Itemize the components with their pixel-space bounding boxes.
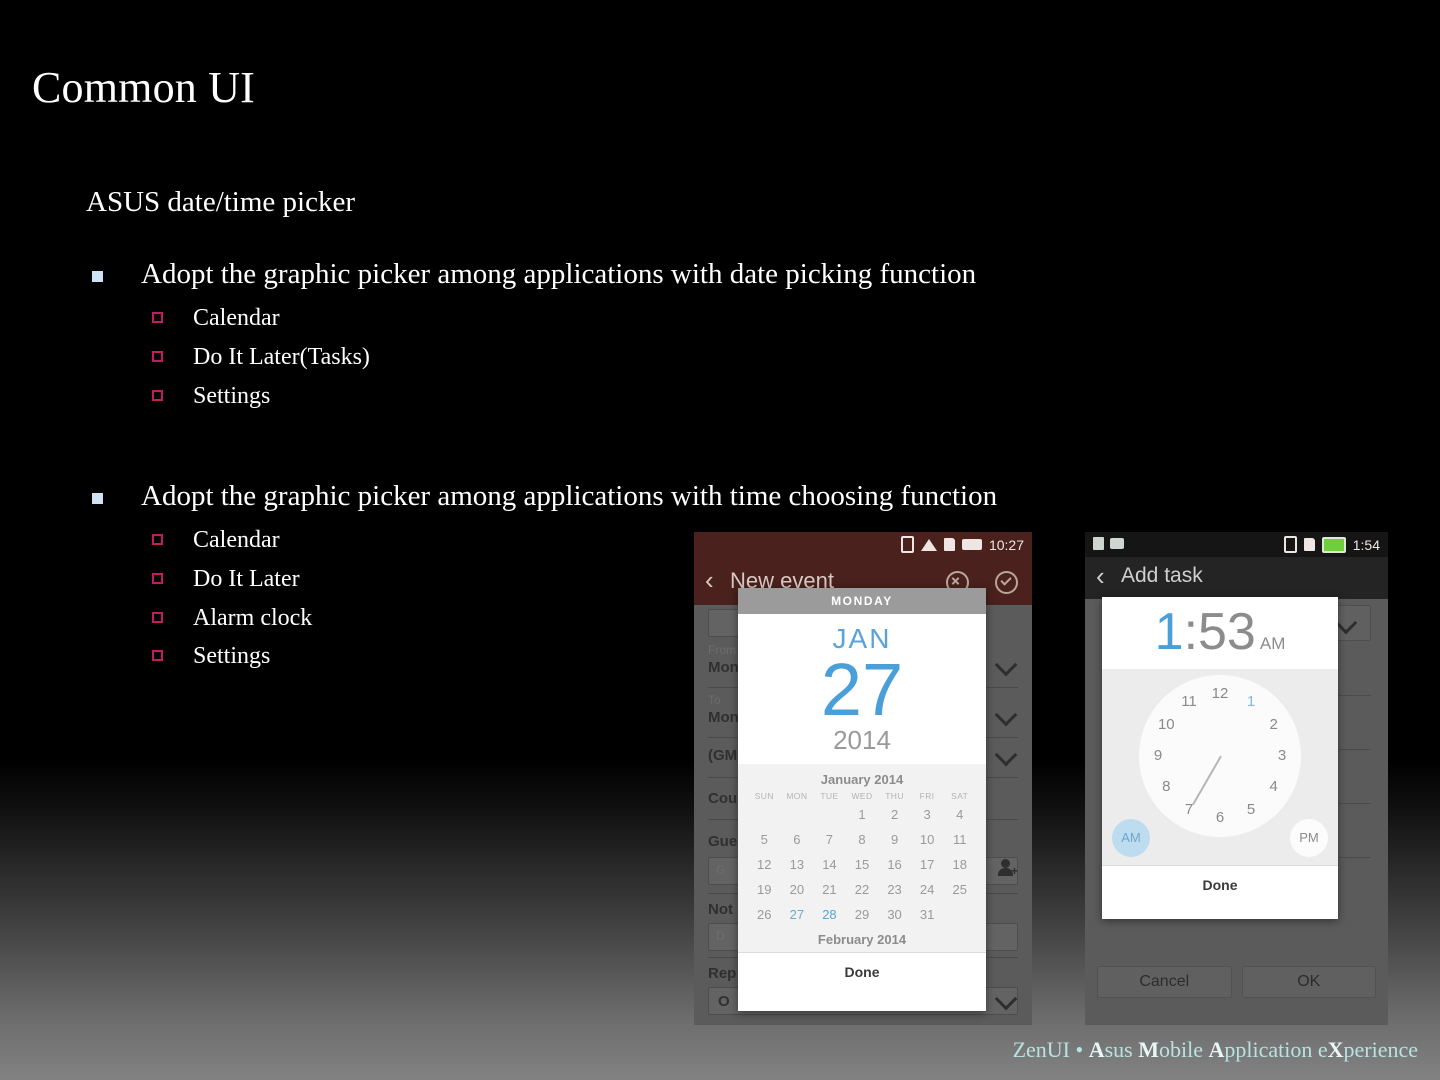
calendar-day-cell[interactable]: 25 [943,879,976,901]
calendar-day-cell[interactable]: 23 [878,879,911,901]
calendar-day-cell[interactable]: 29 [846,904,879,926]
day-of-week-label: MON [781,791,814,801]
back-icon[interactable]: ‹ [705,567,714,593]
clock-number[interactable]: 8 [1155,776,1177,798]
app-bar-title: Add task [1121,564,1203,588]
calendar-day-cell[interactable]: 12 [748,854,781,876]
bullet-level2-label: Calendar [193,527,280,553]
footer-part: X [1328,1037,1344,1062]
calendar-day-cell[interactable]: 24 [911,879,944,901]
calendar-day-cell[interactable]: 20 [781,879,814,901]
calendar-day-cell[interactable]: 18 [943,854,976,876]
hollow-square-bullet-icon [152,612,163,623]
footer-part: A [1208,1037,1224,1062]
bullet-level2: Do It Later(Tasks) [86,338,1146,377]
dialog-action-row: Cancel OK [1097,966,1376,998]
calendar-day-cell[interactable]: 6 [781,829,814,851]
date-done-button[interactable]: Done [738,952,986,991]
vibrate-icon [901,536,914,553]
bullet-level2-label: Do It Later(Tasks) [193,344,370,370]
status-bar: 1:54 [1085,532,1388,557]
day-of-week-label: TUE [813,791,846,801]
minute-value[interactable]: 53 [1198,603,1256,661]
calendar-day-cell[interactable]: 22 [846,879,879,901]
footer-part: pplication e [1224,1037,1327,1062]
calendar-day-cell[interactable]: 8 [846,829,879,851]
time-done-button[interactable]: Done [1102,865,1338,904]
hollow-square-bullet-icon [152,312,163,323]
clock-number[interactable]: 7 [1178,799,1200,821]
day-of-week-row: SUNMONTUEWEDTHUFRISAT [748,791,976,804]
screenshot-date-picker: 10:27 ‹ New event From Mon To Mon (GM [694,532,1032,1025]
date-hero: JAN 27 2014 [738,614,986,764]
hour-value[interactable]: 1 [1155,603,1184,661]
clipboard-icon [1093,537,1104,550]
calendar-day-cell[interactable]: 7 [813,829,846,851]
bullet-level2-label: Calendar [193,305,280,331]
calendar-day-cell[interactable]: 1 [846,804,879,826]
day-of-week-label: THU [878,791,911,801]
clock-number[interactable]: 4 [1263,776,1285,798]
calendar-month-title: January 2014 [748,770,976,791]
bullet-level2-label: Do It Later [193,566,300,592]
calendar-day-cell[interactable]: 5 [748,829,781,851]
hollow-square-bullet-icon [152,534,163,545]
status-bar-clock: 1:54 [1353,537,1380,553]
footer-part: A [1089,1037,1105,1062]
battery-charging-icon [1322,537,1346,553]
square-bullet-icon [92,271,103,282]
screenshot-time-picker: 1:54 ‹ Add task Personal I Ad Due Sat, .… [1085,532,1388,1025]
day-of-week-label: WED [846,791,879,801]
footer-part: M [1138,1037,1159,1062]
time-picker-dialog[interactable]: 1:53AM 121234567891011 AM PM Done [1102,597,1338,919]
status-bar-notifications [1093,537,1124,550]
app-bar: ‹ Add task [1085,557,1388,599]
bullet-level2-label: Alarm clock [193,605,312,631]
clock-number[interactable]: 11 [1178,691,1200,713]
bullet-group-spacer [86,416,1146,478]
status-bar-clock: 10:27 [989,537,1024,553]
slide-footer: ZenUI • Asus Mobile Application eXperien… [1013,1037,1418,1063]
clock-number[interactable]: 5 [1240,799,1262,821]
hollow-square-bullet-icon [152,351,163,362]
sdcard-icon [1304,538,1315,551]
clock-number[interactable]: 12 [1209,683,1231,705]
year-number: 2014 [738,725,986,756]
calendar-day-cell[interactable]: 9 [878,829,911,851]
calendar-day-cell[interactable]: 15 [846,854,879,876]
calendar-empty-cell [781,804,814,826]
bullet-level1-label: Adopt the graphic picker among applicati… [141,258,976,290]
bullet-level1: Adopt the graphic picker among applicati… [86,478,1146,515]
day-number: 27 [738,655,986,725]
calendar-day-cell[interactable]: 16 [878,854,911,876]
pm-toggle[interactable]: PM [1290,819,1328,857]
calendar-day-cell[interactable]: 14 [813,854,846,876]
picture-icon [1110,538,1124,549]
meridiem-value: AM [1260,634,1286,653]
status-bar-icons: 1:54 [1284,536,1380,553]
clock-number[interactable]: 10 [1155,714,1177,736]
footer-part: sus [1105,1037,1139,1062]
day-of-week-label: SUN [748,791,781,801]
add-person-icon[interactable]: + [998,859,1016,877]
clock-face-wrap[interactable]: 121234567891011 AM PM [1102,669,1338,865]
slide-canvas: Common UI ASUS date/time picker Adopt th… [0,0,1440,1080]
footer-part: obile [1159,1037,1209,1062]
clock-number[interactable]: 1 [1240,691,1262,713]
clock-hand [1192,756,1221,805]
footer-part: ZenUI • [1013,1037,1089,1062]
clock-number[interactable]: 6 [1209,807,1231,829]
vibrate-icon [1284,536,1297,553]
ok-button[interactable]: OK [1242,966,1377,998]
calendar-day-cell[interactable]: 3 [911,804,944,826]
day-of-week-label: FRI [911,791,944,801]
confirm-circle-icon[interactable] [995,571,1018,594]
bullet-level2: Calendar [86,299,1146,338]
calendar-empty-cell [748,804,781,826]
bullet-level2: Settings [86,377,1146,416]
status-bar-icons: 10:27 [901,536,1024,553]
calendar-day-cell[interactable]: 30 [878,904,911,926]
calendar-empty-cell [813,804,846,826]
slide-subtitle: ASUS date/time picker [86,186,355,219]
square-bullet-icon [92,493,103,504]
calendar-day-cell[interactable]: 27 [781,904,814,926]
calendar-day-cell[interactable]: 11 [943,829,976,851]
bullet-level1-label: Adopt the graphic picker among applicati… [141,480,997,512]
calendar-day-cell[interactable]: 17 [911,854,944,876]
clock-face[interactable]: 121234567891011 [1139,675,1301,837]
clock-number[interactable]: 2 [1263,714,1285,736]
calendar-day-cell[interactable]: 4 [943,804,976,826]
calendar-day-cell[interactable]: 28 [813,904,846,926]
day-of-week-label: SAT [943,791,976,801]
hollow-square-bullet-icon [152,650,163,661]
back-icon[interactable]: ‹ [1096,563,1105,589]
calendar-next-month-title: February 2014 [748,926,976,952]
calendar-day-cell[interactable]: 10 [911,829,944,851]
bullet-level2-label: Settings [193,383,270,409]
bullet-level1: Adopt the graphic picker among applicati… [86,256,1146,293]
calendar-day-cell[interactable]: 26 [748,904,781,926]
status-bar: 10:27 [694,532,1032,559]
calendar-day-cell[interactable]: 19 [748,879,781,901]
calendar-day-cell[interactable]: 21 [813,879,846,901]
sdcard-icon [944,538,955,551]
calendar-day-cell[interactable]: 13 [781,854,814,876]
date-picker-dialog[interactable]: MONDAY JAN 27 2014 January 2014 SUNMONTU… [738,588,986,1011]
page-title: Common UI [32,62,255,113]
battery-icon [962,539,982,550]
hollow-square-bullet-icon [152,573,163,584]
calendar-grid-wrap[interactable]: January 2014 SUNMONTUEWEDTHUFRISAT 12345… [738,764,986,952]
calendar-day-cell[interactable]: 2 [878,804,911,826]
weekday-header: MONDAY [738,588,986,614]
calendar-day-cell[interactable]: 31 [911,904,944,926]
wifi-icon [921,539,937,551]
time-colon: : [1184,603,1198,661]
footer-part: perience [1344,1037,1419,1062]
clock-number[interactable]: 9 [1147,745,1169,767]
clock-number[interactable]: 3 [1271,745,1293,767]
am-toggle[interactable]: AM [1112,819,1150,857]
calendar-days-grid[interactable]: 1234567891011121314151617181920212223242… [748,804,976,926]
bullet-level2-label: Settings [193,643,270,669]
cancel-button[interactable]: Cancel [1097,966,1232,998]
time-display: 1:53AM [1102,597,1338,669]
hollow-square-bullet-icon [152,390,163,401]
chevron-down-icon[interactable] [1335,612,1358,635]
